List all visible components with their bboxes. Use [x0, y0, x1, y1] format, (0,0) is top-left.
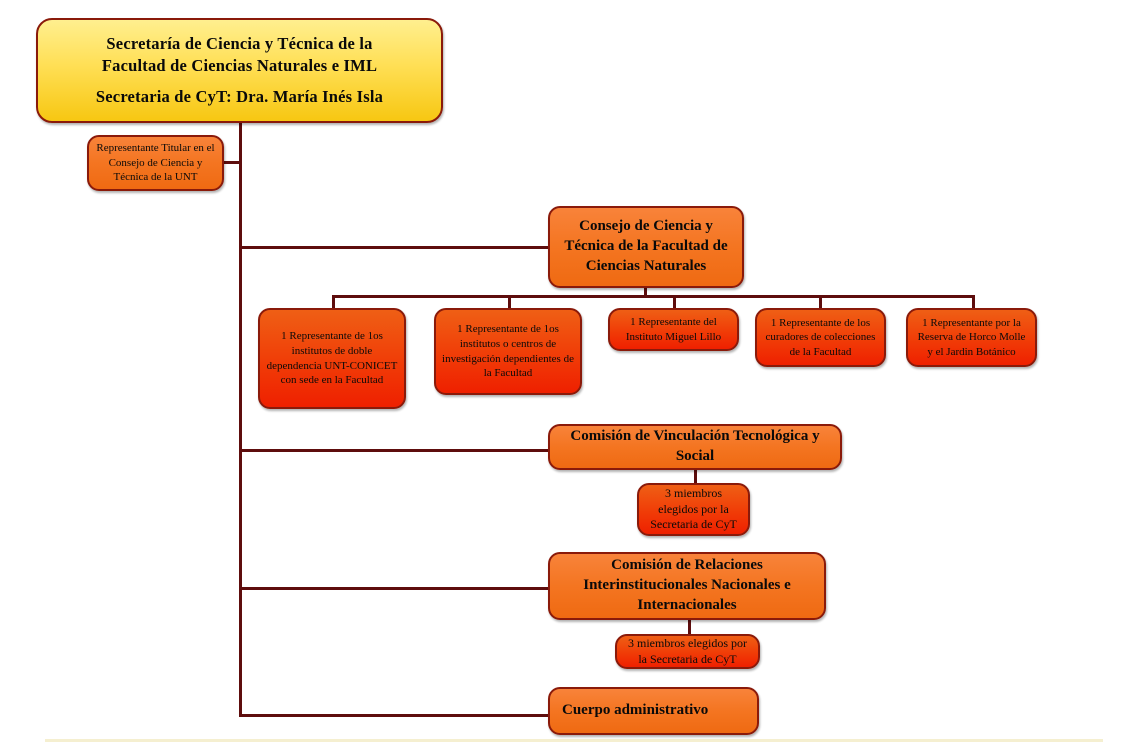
connector-to-comision-relaciones: [239, 587, 551, 590]
org-chart: Secretaría de Ciencia y Técnica de la Fa…: [0, 0, 1129, 746]
page-baseline-rule: [45, 739, 1103, 742]
consejo-member-3-label: 1 Representante del Instituto Miguel Lil…: [616, 315, 731, 344]
consejo-member-4-label: 1 Representante de los curadores de cole…: [763, 316, 878, 360]
connector-main-trunk: [239, 123, 242, 717]
node-comision-relaciones[interactable]: Comisión de Relaciones Interinstituciona…: [548, 552, 826, 620]
node-consejo-member-1[interactable]: 1 Representante de 1os institutos de dob…: [258, 308, 406, 409]
root-line-1: Secretaría de Ciencia y Técnica de la: [44, 33, 435, 55]
connector-member-drop-4: [819, 295, 822, 309]
comision-vinculacion-members-label: 3 miembros elegidos por la Secretaria de…: [645, 486, 742, 533]
node-comision-vinculacion-members[interactable]: 3 miembros elegidos por la Secretaria de…: [637, 483, 750, 536]
comision-relaciones-members-label: 3 miembros elegidos por la Secretaria de…: [623, 636, 752, 668]
node-consejo-member-4[interactable]: 1 Representante de los curadores de cole…: [755, 308, 886, 367]
comision-vinculacion-label: Comisión de Vinculación Tecnológica y So…: [556, 427, 834, 467]
connector-member-drop-5: [972, 295, 975, 309]
connector-to-consejo: [239, 246, 551, 249]
connector-member-drop-3: [673, 295, 676, 309]
node-cuerpo-administrativo[interactable]: Cuerpo administrativo: [548, 687, 759, 735]
connector-member-drop-2: [508, 295, 511, 309]
representante-unt-label: Representante Titular en el Consejo de C…: [95, 141, 216, 185]
comision-relaciones-label: Comisión de Relaciones Interinstituciona…: [556, 556, 818, 615]
node-root-secretaria[interactable]: Secretaría de Ciencia y Técnica de la Fa…: [36, 18, 443, 123]
node-consejo-member-2[interactable]: 1 Representante de 1os institutos o cent…: [434, 308, 582, 395]
connector-to-comision-vinculacion: [239, 449, 551, 452]
node-consejo[interactable]: Consejo de Ciencia y Técnica de la Facul…: [548, 206, 744, 288]
node-comision-vinculacion[interactable]: Comisión de Vinculación Tecnológica y So…: [548, 424, 842, 470]
root-line-2: Facultad de Ciencias Naturales e IML: [44, 55, 435, 77]
connector-member-drop-1: [332, 295, 335, 309]
consejo-member-1-label: 1 Representante de 1os institutos de dob…: [266, 329, 398, 387]
connector-to-cuerpo-administrativo: [239, 714, 551, 717]
node-comision-relaciones-members[interactable]: 3 miembros elegidos por la Secretaria de…: [615, 634, 760, 669]
root-line-3: Secretaria de CyT: Dra. María Inés Isla: [44, 86, 435, 108]
consejo-member-5-label: 1 Representante por la Reserva de Horco …: [914, 316, 1029, 360]
node-consejo-member-5[interactable]: 1 Representante por la Reserva de Horco …: [906, 308, 1037, 367]
cuerpo-administrativo-label: Cuerpo administrativo: [562, 701, 751, 721]
connector-members-bus: [332, 295, 975, 298]
consejo-member-2-label: 1 Representante de 1os institutos o cent…: [442, 322, 574, 380]
node-consejo-member-3[interactable]: 1 Representante del Instituto Miguel Lil…: [608, 308, 739, 351]
consejo-label: Consejo de Ciencia y Técnica de la Facul…: [556, 217, 736, 276]
node-representante-unt[interactable]: Representante Titular en el Consejo de C…: [87, 135, 224, 191]
